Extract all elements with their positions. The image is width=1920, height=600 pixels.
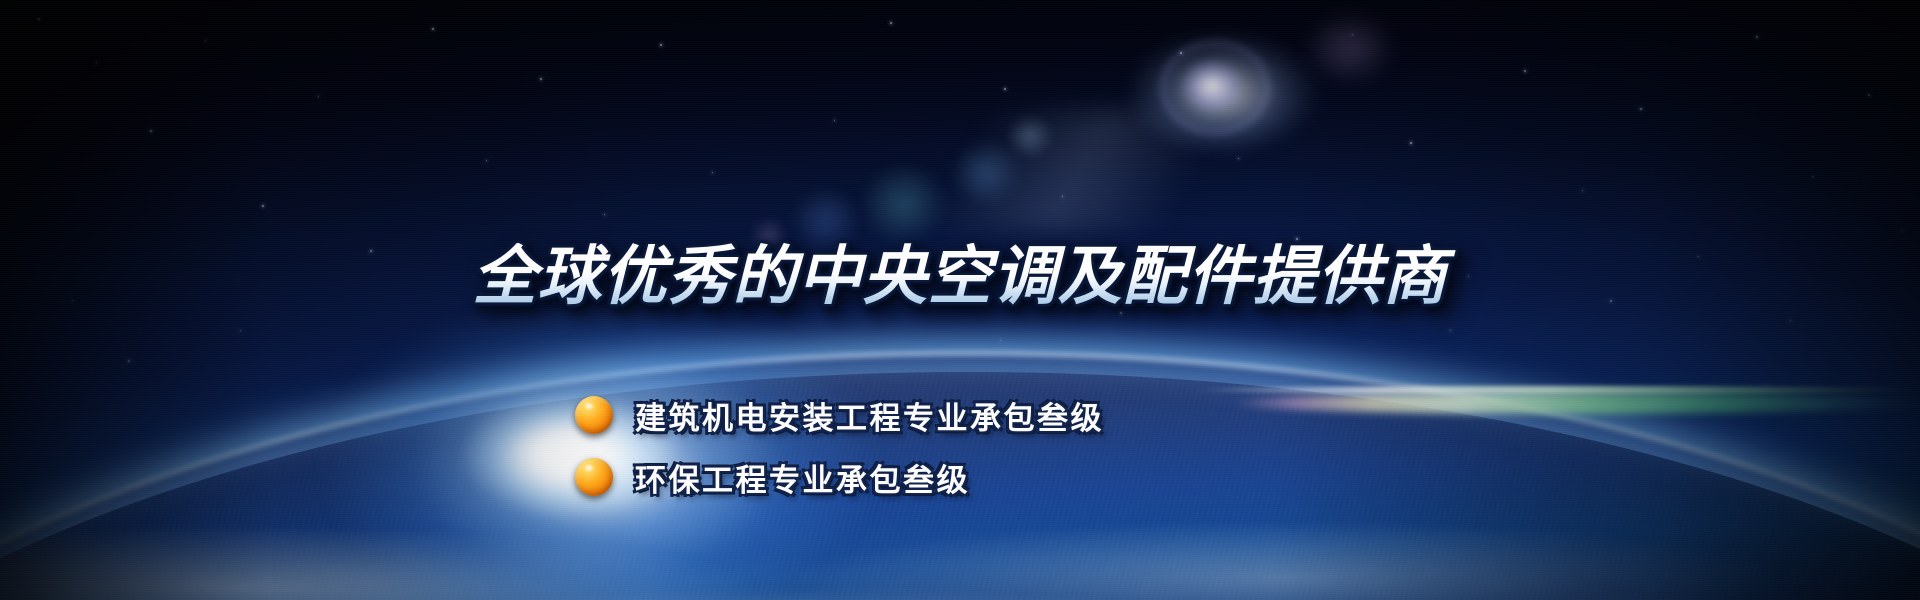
orange-sphere-bullet-icon (575, 396, 613, 434)
bullet-label-1: 建筑机电安装工程专业承包叁级 (635, 393, 1104, 438)
banner-headline: 全球优秀的中央空调及配件提供商 (0, 243, 1920, 310)
orange-sphere-bullet-icon (575, 458, 613, 496)
banner-content: 全球优秀的中央空调及配件提供商 建筑机电安装工程专业承包叁级 环保工程专业承包叁… (0, 0, 1920, 600)
banner-bullet-list: 建筑机电安装工程专业承包叁级 环保工程专业承包叁级 (575, 384, 1104, 508)
bullet-label-2: 环保工程专业承包叁级 (635, 455, 970, 500)
bullet-item-2: 环保工程专业承包叁级 (575, 446, 1104, 508)
bullet-item-1: 建筑机电安装工程专业承包叁级 (575, 384, 1104, 446)
hero-banner: 全球优秀的中央空调及配件提供商 建筑机电安装工程专业承包叁级 环保工程专业承包叁… (0, 0, 1920, 600)
